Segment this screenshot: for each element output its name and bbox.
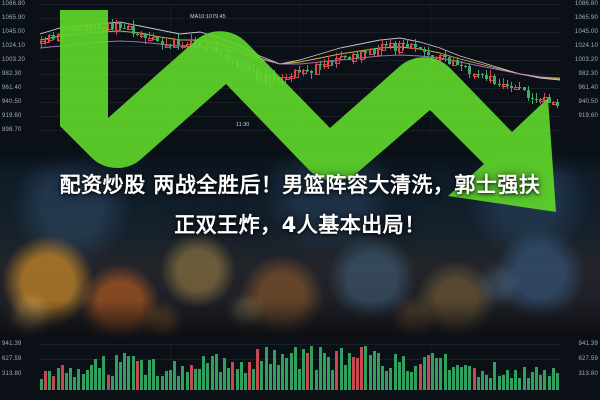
volume-bar <box>481 371 484 390</box>
volume-bar <box>173 361 176 390</box>
candle <box>423 4 426 132</box>
volume-bar <box>543 370 546 390</box>
volume-bar <box>319 347 322 390</box>
volume-axis-right-1: 627.59 <box>578 356 598 362</box>
candle <box>377 4 380 132</box>
volume-bar <box>310 346 313 390</box>
candle <box>481 4 484 132</box>
volume-bar <box>419 364 422 390</box>
candle <box>323 4 326 132</box>
volume-bar <box>119 362 122 390</box>
volume-bar <box>356 358 359 390</box>
price-axis-left-2: 1045.00 <box>2 29 25 35</box>
candle <box>514 4 517 132</box>
volume-bar <box>40 379 43 390</box>
candle <box>427 4 430 132</box>
candle <box>240 4 243 132</box>
candle <box>477 4 480 132</box>
price-chart-plot: MA10:1079.45 11:30 <box>40 4 560 132</box>
candle <box>190 4 193 132</box>
volume-bar <box>448 370 451 390</box>
volume-bar <box>144 375 147 390</box>
candle <box>202 4 205 132</box>
volume-bar <box>165 371 168 390</box>
volume-bar <box>514 370 517 390</box>
candle <box>98 4 101 132</box>
candle <box>510 4 513 132</box>
volume-bar <box>468 366 471 390</box>
volume-bar <box>452 367 455 390</box>
candle <box>90 4 93 132</box>
candle <box>364 4 367 132</box>
candle <box>473 4 476 132</box>
candle <box>302 4 305 132</box>
candle <box>256 4 259 132</box>
volume-bar <box>65 373 68 390</box>
volume-bar <box>82 374 85 390</box>
candle <box>502 4 505 132</box>
price-axis-left-8: 919.60 <box>2 113 22 119</box>
candle <box>123 4 126 132</box>
volume-bar <box>57 368 60 390</box>
volume-bar <box>61 365 64 390</box>
volume-bar <box>348 353 351 390</box>
price-chart-panel: MA10:1079.45 11:30 1086.80 1065.90 1045.… <box>0 0 600 150</box>
candle <box>211 4 214 132</box>
candle <box>223 4 226 132</box>
candle <box>94 4 97 132</box>
volume-bar <box>506 370 509 390</box>
volume-bar <box>277 365 280 390</box>
candle <box>152 4 155 132</box>
candle <box>456 4 459 132</box>
candle <box>452 4 455 132</box>
volume-bar <box>369 355 372 390</box>
price-axis-right-4: 1003.20 <box>575 57 598 63</box>
candle <box>352 4 355 132</box>
candle <box>556 4 559 132</box>
candle <box>410 4 413 132</box>
headline-line-1: 配资炒股 两战全胜后！男篮阵容大清洗，郭士强扶 <box>0 165 600 205</box>
volume-bar <box>107 375 110 390</box>
volume-bar <box>256 349 259 390</box>
candle <box>340 4 343 132</box>
volume-bar <box>485 375 488 390</box>
candle <box>136 4 139 132</box>
candle <box>506 4 509 132</box>
candle <box>69 4 72 132</box>
candle <box>431 4 434 132</box>
volume-bar <box>136 361 139 390</box>
volume-bar <box>315 370 318 390</box>
volume-bar <box>340 348 343 390</box>
candle <box>464 4 467 132</box>
volume-bar <box>435 358 438 390</box>
candle <box>194 4 197 132</box>
volume-bar <box>352 357 355 390</box>
volume-bar <box>140 360 143 390</box>
candle <box>169 4 172 132</box>
volume-bar <box>198 369 201 390</box>
candle <box>444 4 447 132</box>
candle <box>290 4 293 132</box>
candle <box>348 4 351 132</box>
volume-bar <box>186 372 189 390</box>
screenshot-canvas: MA10:1079.45 11:30 1086.80 1065.90 1045.… <box>0 0 600 400</box>
candle <box>539 4 542 132</box>
price-axis-left-0: 1086.80 <box>2 1 25 7</box>
volume-bar <box>394 354 397 390</box>
candle <box>406 4 409 132</box>
candle <box>385 4 388 132</box>
volume-bar <box>360 347 363 390</box>
candle <box>277 4 280 132</box>
candle <box>44 4 47 132</box>
volume-bar <box>156 376 159 390</box>
volume-bar <box>227 368 230 390</box>
volume-bar <box>502 375 505 390</box>
volume-bar <box>410 372 413 390</box>
volume-bar <box>115 355 118 390</box>
candle <box>119 4 122 132</box>
volume-bar <box>211 356 214 390</box>
volume-bar <box>102 356 105 390</box>
volume-axis-right-0: 941.39 <box>578 341 598 347</box>
volume-bar <box>148 360 151 390</box>
volume-bar <box>377 353 380 390</box>
candle <box>414 4 417 132</box>
volume-bar <box>248 362 251 390</box>
candle <box>107 4 110 132</box>
price-axis-right-3: 1024.10 <box>575 43 598 49</box>
volume-bar <box>556 373 559 390</box>
volume-bar <box>527 378 530 390</box>
candle <box>260 4 263 132</box>
candle <box>298 4 301 132</box>
candle <box>518 4 521 132</box>
volume-chart-panel: 941.39 627.59 313.80 941.39 627.59 313.8… <box>0 338 600 400</box>
volume-axis-left-2: 313.80 <box>2 371 22 377</box>
candle <box>219 4 222 132</box>
volume-bar <box>406 371 409 390</box>
candle <box>252 4 255 132</box>
price-axis-left-7: 940.50 <box>2 99 22 105</box>
volume-bar <box>460 367 463 390</box>
candle <box>331 4 334 132</box>
candle <box>344 4 347 132</box>
candle <box>198 4 201 132</box>
candle <box>132 4 135 132</box>
volume-bar <box>206 363 209 390</box>
volume-bar <box>98 368 101 390</box>
candle <box>398 4 401 132</box>
volume-bar <box>73 377 76 390</box>
candle <box>281 4 284 132</box>
band-bottom-shadow <box>0 300 600 340</box>
volume-bar <box>77 369 80 390</box>
price-axis-left-3: 1024.10 <box>2 43 25 49</box>
candle <box>439 4 442 132</box>
volume-axis-left-0: 941.39 <box>2 341 22 347</box>
volume-bar <box>190 365 193 390</box>
volume-bar <box>152 359 155 390</box>
volume-bar <box>423 357 426 390</box>
volume-bar <box>510 378 513 390</box>
volume-bar <box>281 354 284 390</box>
candle <box>327 4 330 132</box>
volume-bar <box>323 353 326 390</box>
volume-bar <box>327 357 330 390</box>
volume-bar <box>298 369 301 390</box>
volume-bar <box>231 362 234 390</box>
candle <box>273 4 276 132</box>
volume-bar <box>402 356 405 390</box>
volume-bar <box>127 356 130 390</box>
volume-bar <box>194 369 197 390</box>
candle <box>315 4 318 132</box>
candle <box>489 4 492 132</box>
volume-bar <box>240 362 243 390</box>
candle <box>402 4 405 132</box>
volume-axis-left-1: 627.59 <box>2 356 22 362</box>
candle <box>231 4 234 132</box>
price-axis-right-0: 1086.80 <box>575 1 598 7</box>
volume-bar <box>535 367 538 390</box>
price-axis-right-2: 1045.00 <box>575 29 598 35</box>
candle <box>460 4 463 132</box>
volume-bar <box>456 365 459 390</box>
volume-bar <box>236 369 239 390</box>
volume-bar <box>473 368 476 390</box>
candle <box>165 4 168 132</box>
volume-bar <box>439 358 442 390</box>
volume-bar <box>202 356 205 390</box>
candle <box>535 4 538 132</box>
volume-bar <box>111 376 114 390</box>
candle <box>306 4 309 132</box>
candle <box>115 4 118 132</box>
volume-bar <box>52 376 55 390</box>
volume-bar <box>181 366 184 390</box>
candle <box>127 4 130 132</box>
volume-bar <box>132 356 135 390</box>
volume-bar <box>464 365 467 390</box>
candle <box>236 4 239 132</box>
volume-bar <box>86 370 89 390</box>
volume-bar <box>273 350 276 390</box>
candle <box>448 4 451 132</box>
price-axis-left-1: 1065.90 <box>2 15 25 21</box>
candle <box>435 4 438 132</box>
volume-bar <box>427 355 430 390</box>
candle <box>73 4 76 132</box>
candle <box>369 4 372 132</box>
candle <box>161 4 164 132</box>
candle <box>419 4 422 132</box>
volume-bar <box>244 373 247 391</box>
candle <box>140 4 143 132</box>
volume-bar <box>48 371 51 390</box>
volume-bar <box>94 359 97 390</box>
candle <box>40 4 43 132</box>
volume-bar <box>90 365 93 390</box>
candle <box>523 4 526 132</box>
candle <box>531 4 534 132</box>
candle <box>227 4 230 132</box>
volume-bar <box>373 351 376 390</box>
candle <box>82 4 85 132</box>
volume-bar <box>69 368 72 390</box>
candle <box>144 4 147 132</box>
candle <box>156 4 159 132</box>
candle <box>356 4 359 132</box>
volume-axis-right-2: 313.80 <box>578 371 598 377</box>
candle <box>177 4 180 132</box>
headline-text: 配资炒股 两战全胜后！男篮阵容大清洗，郭士强扶 正双王炸，4人基本出局！ <box>0 165 600 245</box>
candle <box>394 4 397 132</box>
candle <box>543 4 546 132</box>
candle <box>48 4 51 132</box>
volume-bar <box>294 347 297 390</box>
volume-bar <box>539 375 542 390</box>
volume-bar <box>477 377 480 390</box>
price-axis-right-8: 919.60 <box>578 113 598 119</box>
candle <box>548 4 551 132</box>
volume-bar <box>219 372 222 390</box>
candle <box>215 4 218 132</box>
volume-bar <box>223 358 226 390</box>
price-axis-left-5: 982.30 <box>2 71 22 77</box>
candle <box>527 4 530 132</box>
candle <box>248 4 251 132</box>
candle <box>498 4 501 132</box>
volume-bar <box>431 353 434 390</box>
volume-bar <box>489 378 492 390</box>
price-axis-right-1: 1065.90 <box>575 15 598 21</box>
candle <box>186 4 189 132</box>
volume-bar <box>498 376 501 390</box>
candle <box>310 4 313 132</box>
volume-bar <box>552 368 555 390</box>
headline-line-2: 正双王炸，4人基本出局！ <box>0 205 600 245</box>
volume-chart-plot <box>40 344 560 390</box>
volume-bar <box>414 366 417 390</box>
candle <box>269 4 272 132</box>
volume-bar <box>169 370 172 390</box>
candle <box>173 4 176 132</box>
candle <box>65 4 68 132</box>
volume-bar <box>381 366 384 390</box>
volume-bar <box>335 351 338 390</box>
volume-bar <box>177 376 180 390</box>
candle <box>381 4 384 132</box>
volume-bar <box>444 354 447 390</box>
volume-bar <box>306 353 309 390</box>
candle <box>373 4 376 132</box>
candle <box>335 4 338 132</box>
volume-bar <box>161 376 164 390</box>
candle <box>148 4 151 132</box>
price-axis-left-9: 898.70 <box>2 127 22 133</box>
candle <box>61 4 64 132</box>
volume-bar <box>398 362 401 390</box>
candle <box>111 4 114 132</box>
volume-bar <box>285 358 288 390</box>
candle <box>468 4 471 132</box>
volume-bar <box>215 354 218 390</box>
volume-bar <box>260 361 263 390</box>
candle <box>102 4 105 132</box>
volume-bar <box>344 365 347 390</box>
volume-bar <box>44 371 47 390</box>
price-axis-right-6: 961.40 <box>578 85 598 91</box>
volume-bar <box>518 378 521 390</box>
volume-bar <box>389 368 392 390</box>
volume-bar <box>523 367 526 390</box>
candle <box>244 4 247 132</box>
candle <box>52 4 55 132</box>
candle <box>57 4 60 132</box>
candle <box>206 4 209 132</box>
candle <box>181 4 184 132</box>
volume-bar <box>252 369 255 390</box>
candle <box>285 4 288 132</box>
candle <box>265 4 268 132</box>
price-axis-left-4: 1003.20 <box>2 57 25 63</box>
volume-bar <box>364 346 367 390</box>
price-axis-right-7: 940.50 <box>578 99 598 105</box>
volume-bar <box>302 349 305 390</box>
candle <box>86 4 89 132</box>
volume-bar <box>531 372 534 390</box>
candle <box>77 4 80 132</box>
price-axis-left-6: 961.40 <box>2 85 22 91</box>
price-axis-right-5: 982.30 <box>578 71 598 77</box>
candle <box>485 4 488 132</box>
volume-bar <box>265 347 268 390</box>
volume-bar <box>548 376 551 390</box>
candle <box>360 4 363 132</box>
volume-bar <box>269 364 272 390</box>
volume-bar <box>385 371 388 390</box>
volume-bar <box>123 353 126 390</box>
candle <box>552 4 555 132</box>
candle <box>319 4 322 132</box>
volume-bar <box>290 353 293 390</box>
candle <box>493 4 496 132</box>
volume-bar <box>331 370 334 390</box>
candle <box>294 4 297 132</box>
volume-bar <box>493 362 496 390</box>
candle <box>389 4 392 132</box>
